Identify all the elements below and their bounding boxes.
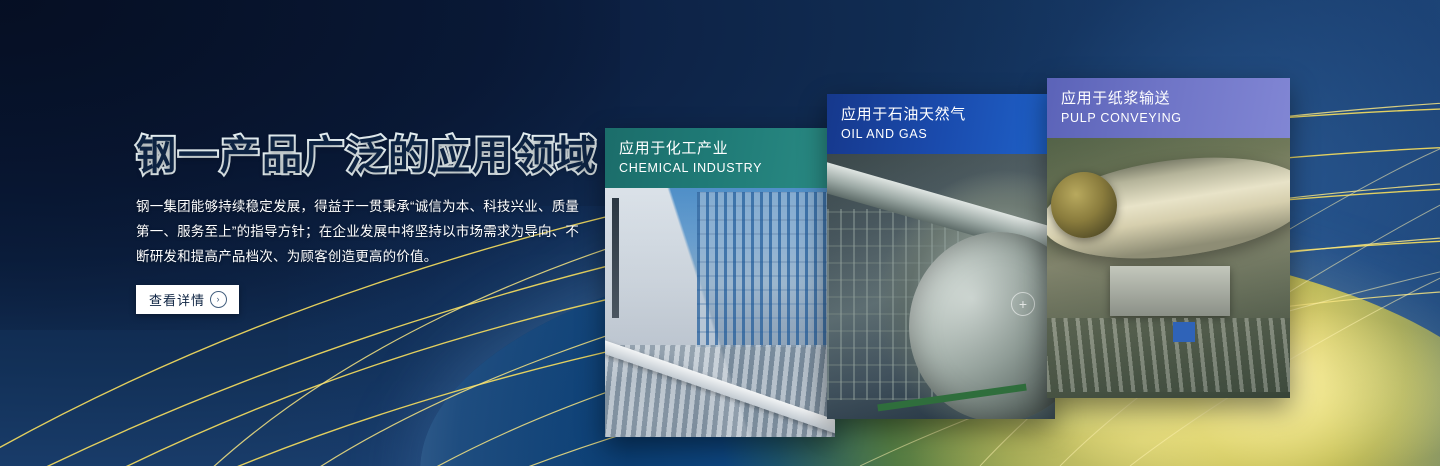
- card-photo-chemical: [605, 188, 835, 437]
- card-header-chemical: 应用于化工产业 CHEMICAL INDUSTRY: [605, 128, 835, 188]
- card-header-oil: 应用于石油天然气 OIL AND GAS: [827, 94, 1055, 154]
- view-details-label: 查看详情: [149, 290, 205, 309]
- machine-frame: [1110, 266, 1230, 316]
- card-title-cn: 应用于纸浆输送: [1061, 89, 1276, 109]
- application-card-pulp[interactable]: 应用于纸浆输送 PULP CONVEYING: [1047, 78, 1290, 398]
- hero-banner: 钢一产品广泛的应用领域 钢一集团能够持续稳定发展，得益于一贯秉承“诚信为本、科技…: [0, 0, 1440, 466]
- roller-hub: [1051, 172, 1117, 238]
- application-card-oil-and-gas[interactable]: 应用于石油天然气 OIL AND GAS +: [827, 94, 1055, 419]
- card-title-en: PULP CONVEYING: [1061, 110, 1276, 127]
- page-title: 钢一产品广泛的应用领域: [136, 136, 606, 176]
- card-photo-oil: +: [827, 154, 1055, 419]
- lower-pipework: [1047, 318, 1290, 392]
- card-header-pulp: 应用于纸浆输送 PULP CONVEYING: [1047, 78, 1290, 138]
- card-title-en: OIL AND GAS: [841, 126, 1041, 143]
- card-title-en: CHEMICAL INDUSTRY: [619, 160, 821, 177]
- blue-control-box: [1173, 322, 1195, 342]
- card-title-cn: 应用于化工产业: [619, 139, 821, 159]
- application-card-chemical[interactable]: 应用于化工产业 CHEMICAL INDUSTRY: [605, 128, 835, 437]
- smokestack: [612, 198, 619, 318]
- card-title-cn: 应用于石油天然气: [841, 105, 1041, 125]
- hero-copy-block: 钢一产品广泛的应用领域 钢一集团能够持续稳定发展，得益于一贯秉承“诚信为本、科技…: [136, 136, 606, 314]
- plant-tower-structure: [697, 192, 835, 346]
- view-details-button[interactable]: 查看详情 ›: [136, 285, 239, 314]
- card-photo-pulp: [1047, 138, 1290, 398]
- chevron-right-icon: ›: [210, 291, 227, 308]
- hero-description: 钢一集团能够持续稳定发展，得益于一贯秉承“诚信为本、科技兴业、质量第一、服务至上…: [136, 194, 581, 269]
